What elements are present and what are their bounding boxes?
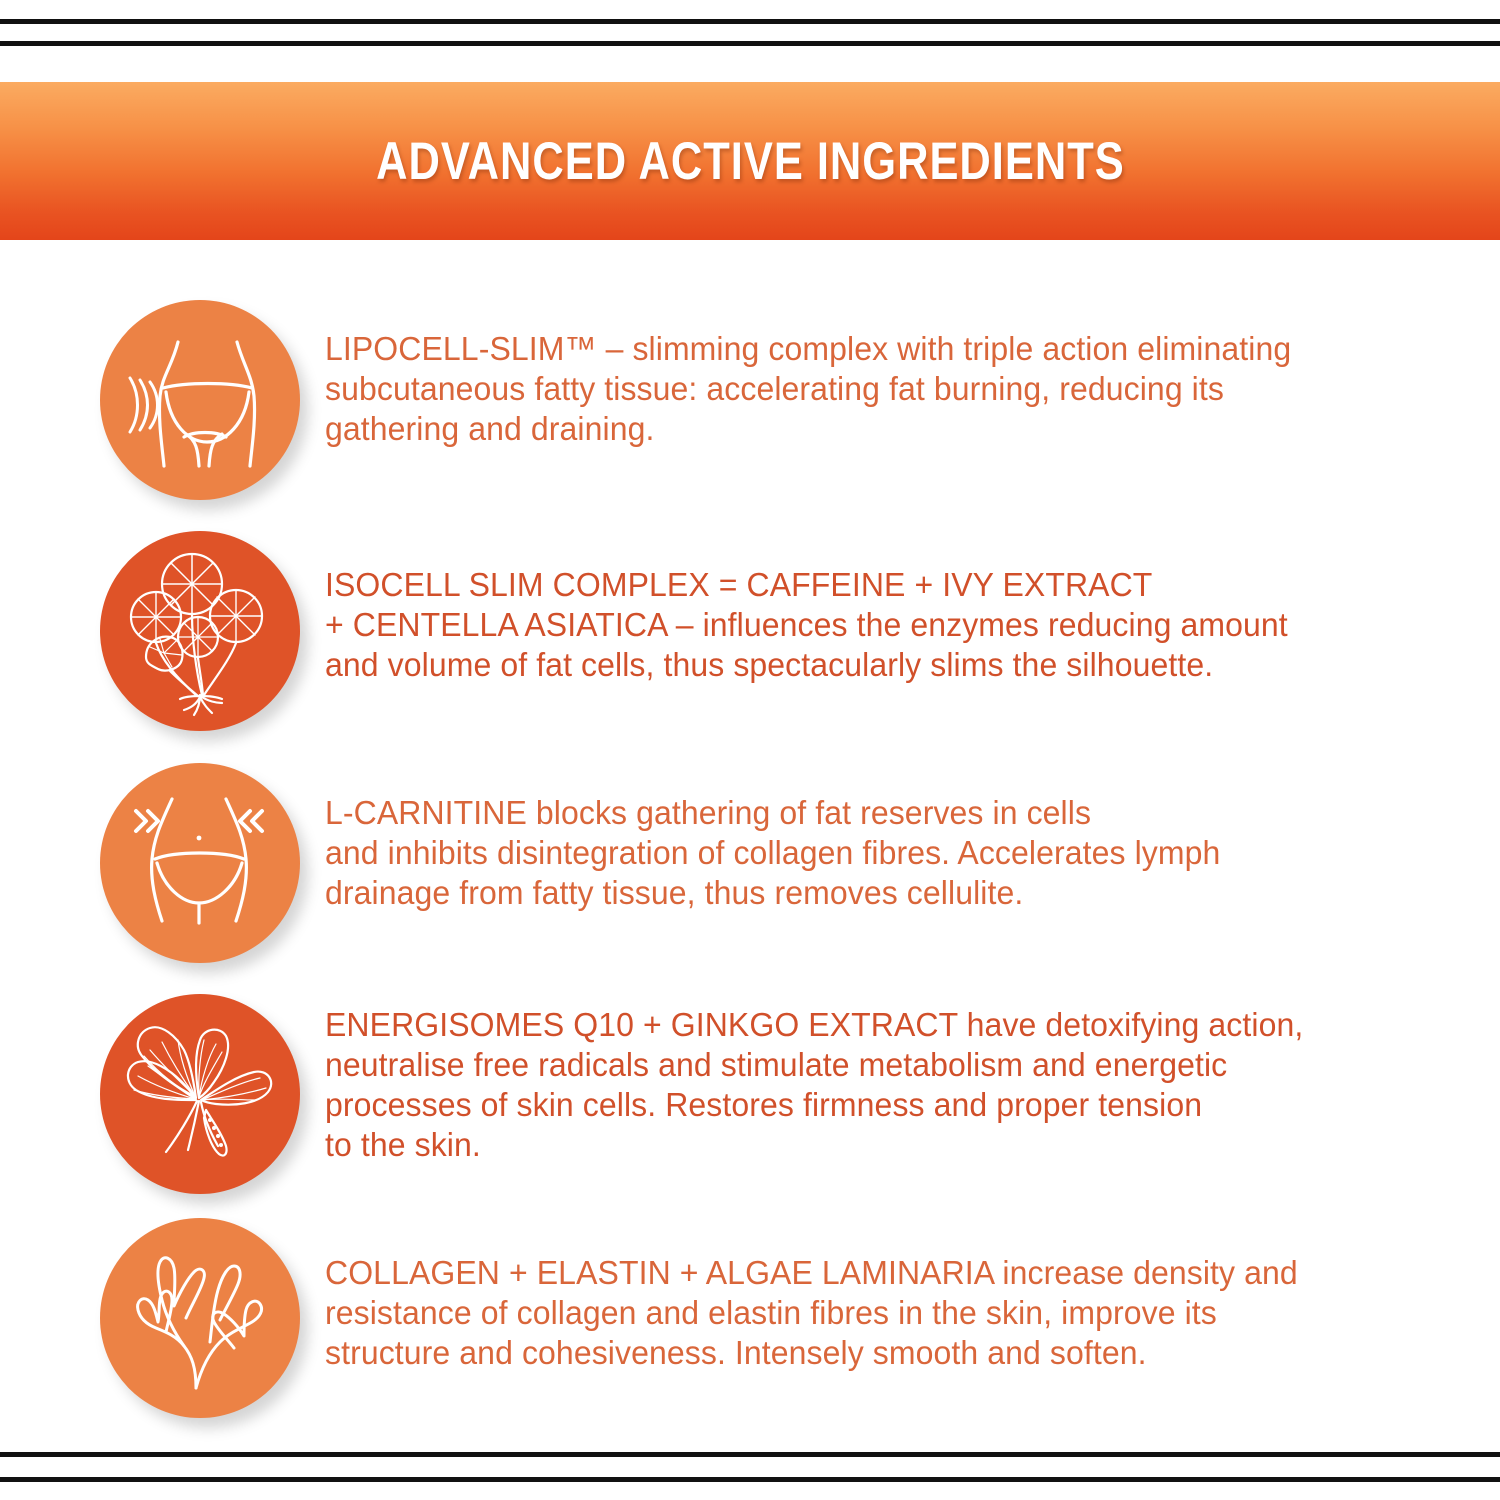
badge-ginkgo-leaf	[100, 994, 300, 1194]
body-belly-chevrons-icon	[100, 763, 300, 963]
ingredients-infographic: ADVANCED ACTIVE INGREDIENTS	[0, 0, 1500, 1500]
page-title: ADVANCED ACTIVE INGREDIENTS	[376, 131, 1125, 192]
algae-seaweed-icon	[100, 1218, 300, 1418]
top-rule-outer	[0, 19, 1500, 24]
ingredient-row: L-CARNITINE blocks gathering of fat rese…	[0, 716, 1500, 946]
badge-body-hips-waves	[100, 300, 300, 500]
ingredient-text: COLLAGEN + ELASTIN + ALGAE LAMINARIA inc…	[325, 1254, 1352, 1374]
header-banner: ADVANCED ACTIVE INGREDIENTS	[0, 82, 1500, 240]
badge-algae-seaweed	[100, 1218, 300, 1418]
ingredient-text: L-CARNITINE blocks gathering of fat rese…	[325, 794, 1352, 914]
badge-centella-plant	[100, 531, 300, 731]
ingredient-text: ISOCELL SLIM COMPLEX = CAFFEINE + IVY EX…	[325, 566, 1352, 686]
ingredient-row: ISOCELL SLIM COMPLEX = CAFFEINE + IVY EX…	[0, 486, 1500, 716]
bottom-rule-inner	[0, 1452, 1500, 1457]
body-hips-waves-icon	[100, 300, 300, 500]
badge-body-belly-chevrons	[100, 763, 300, 963]
ingredients-list: LIPOCELL-SLIM™ – slimming complex with t…	[0, 255, 1500, 1406]
ingredient-text: ENERGISOMES Q10 + GINKGO EXTRACT have de…	[325, 1006, 1352, 1166]
ingredient-row: LIPOCELL-SLIM™ – slimming complex with t…	[0, 255, 1500, 486]
ingredient-row: ENERGISOMES Q10 + GINKGO EXTRACT have de…	[0, 946, 1500, 1176]
ginkgo-leaf-icon	[100, 994, 300, 1194]
bottom-rule-outer	[0, 1477, 1500, 1482]
top-rule-inner	[0, 41, 1500, 46]
centella-asiatica-plant-icon	[100, 531, 300, 731]
ingredient-text: LIPOCELL-SLIM™ – slimming complex with t…	[325, 330, 1352, 450]
ingredient-row: COLLAGEN + ELASTIN + ALGAE LAMINARIA inc…	[0, 1176, 1500, 1406]
